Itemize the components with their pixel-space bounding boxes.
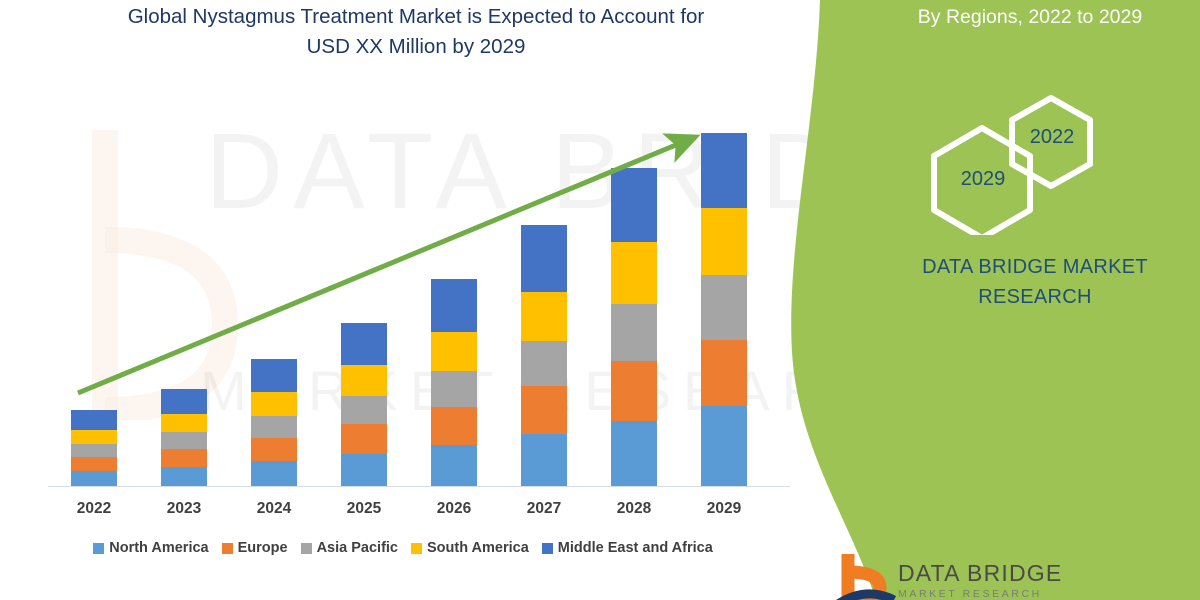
x-axis-label-2024: 2024	[229, 500, 319, 518]
legend-label: North America	[109, 540, 208, 556]
bar-segment[interactable]	[341, 454, 387, 486]
bar-2029[interactable]	[701, 133, 747, 486]
hexagon-label-end: 2029	[940, 168, 1026, 191]
hexagon-icons	[920, 90, 1120, 235]
bar-segment[interactable]	[161, 389, 207, 414]
bar-segment[interactable]	[71, 444, 117, 457]
bar-segment[interactable]	[431, 445, 477, 486]
bar-segment[interactable]	[251, 438, 297, 461]
legend-item[interactable]: South America	[411, 540, 529, 556]
x-axis-label-2025: 2025	[319, 500, 409, 518]
x-axis-label-2027: 2027	[499, 500, 589, 518]
bar-segment[interactable]	[701, 340, 747, 406]
bar-segment[interactable]	[431, 407, 477, 445]
chart-legend: North AmericaEuropeAsia PacificSouth Ame…	[0, 540, 806, 556]
panel-heading: By Regions, 2022 to 2029	[860, 0, 1200, 31]
legend-label: Europe	[238, 540, 288, 556]
bar-segment[interactable]	[521, 292, 567, 341]
bar-segment[interactable]	[521, 225, 567, 292]
bar-segment[interactable]	[71, 457, 117, 471]
brand-line-2: RESEARCH	[880, 282, 1190, 312]
bar-segment[interactable]	[161, 432, 207, 449]
bar-segment[interactable]	[611, 168, 657, 242]
legend-swatch-icon	[411, 543, 422, 554]
chart-plot-area: 20222023202420252026202720282029	[0, 0, 810, 600]
legend-item[interactable]: Middle East and Africa	[542, 540, 713, 556]
legend-swatch-icon	[222, 543, 233, 554]
legend-swatch-icon	[542, 543, 553, 554]
bar-segment[interactable]	[341, 365, 387, 396]
bar-segment[interactable]	[341, 424, 387, 454]
bar-2025[interactable]	[341, 323, 387, 486]
hexagon-label-start: 2022	[1016, 126, 1088, 149]
bar-2026[interactable]	[431, 279, 477, 486]
x-axis-label-2023: 2023	[139, 500, 229, 518]
bar-segment[interactable]	[161, 467, 207, 486]
bar-2023[interactable]	[161, 389, 207, 486]
legend-swatch-icon	[93, 543, 104, 554]
bar-segment[interactable]	[611, 304, 657, 361]
x-axis-label-2029: 2029	[679, 500, 769, 518]
x-axis-line	[48, 486, 790, 487]
bar-segment[interactable]	[251, 392, 297, 416]
bar-segment[interactable]	[701, 208, 747, 275]
data-bridge-logo-icon	[836, 552, 896, 600]
company-logo: DATA BRIDGE MARKET RESEARCH	[836, 552, 1076, 600]
bar-segment[interactable]	[341, 396, 387, 424]
bar-segment[interactable]	[521, 386, 567, 434]
legend-item[interactable]: Europe	[222, 540, 288, 556]
bar-segment[interactable]	[341, 323, 387, 365]
bar-segment[interactable]	[611, 361, 657, 421]
legend-label: Asia Pacific	[317, 540, 398, 556]
bar-segment[interactable]	[701, 275, 747, 340]
legend-label: South America	[427, 540, 529, 556]
logo-wordmark: DATA BRIDGE	[898, 560, 1062, 587]
growth-arrow-icon	[0, 0, 810, 520]
bar-segment[interactable]	[71, 410, 117, 429]
bar-segment[interactable]	[611, 242, 657, 303]
infographic-canvas: DATA BRIDGE MARKET RESEARCH By Regions, …	[0, 0, 1200, 600]
bar-segment[interactable]	[161, 414, 207, 432]
bar-segment[interactable]	[251, 416, 297, 438]
bar-segment[interactable]	[161, 449, 207, 467]
bar-segment[interactable]	[431, 332, 477, 371]
legend-item[interactable]: North America	[93, 540, 208, 556]
bar-2028[interactable]	[611, 168, 657, 486]
x-axis-label-2028: 2028	[589, 500, 679, 518]
bar-segment[interactable]	[251, 461, 297, 486]
brand-name: DATA BRIDGE MARKET RESEARCH	[880, 252, 1190, 312]
x-axis-label-2026: 2026	[409, 500, 499, 518]
bar-segment[interactable]	[521, 434, 567, 486]
legend-item[interactable]: Asia Pacific	[301, 540, 398, 556]
bar-segment[interactable]	[251, 359, 297, 391]
bar-segment[interactable]	[701, 406, 747, 486]
brand-line-1: DATA BRIDGE MARKET	[880, 252, 1190, 282]
bar-segment[interactable]	[431, 279, 477, 332]
bar-segment[interactable]	[611, 421, 657, 486]
logo-subtext: MARKET RESEARCH	[898, 588, 1042, 600]
x-axis-label-2022: 2022	[49, 500, 139, 518]
bar-2027[interactable]	[521, 225, 567, 486]
bar-2022[interactable]	[71, 410, 117, 486]
legend-label: Middle East and Africa	[558, 540, 713, 556]
bar-segment[interactable]	[71, 430, 117, 444]
legend-swatch-icon	[301, 543, 312, 554]
bar-segment[interactable]	[521, 341, 567, 386]
bar-segment[interactable]	[431, 371, 477, 407]
bar-segment[interactable]	[701, 133, 747, 208]
hexagon-year-group: 2022 2029	[920, 90, 1120, 235]
bar-segment[interactable]	[71, 471, 117, 486]
bar-2024[interactable]	[251, 359, 297, 486]
